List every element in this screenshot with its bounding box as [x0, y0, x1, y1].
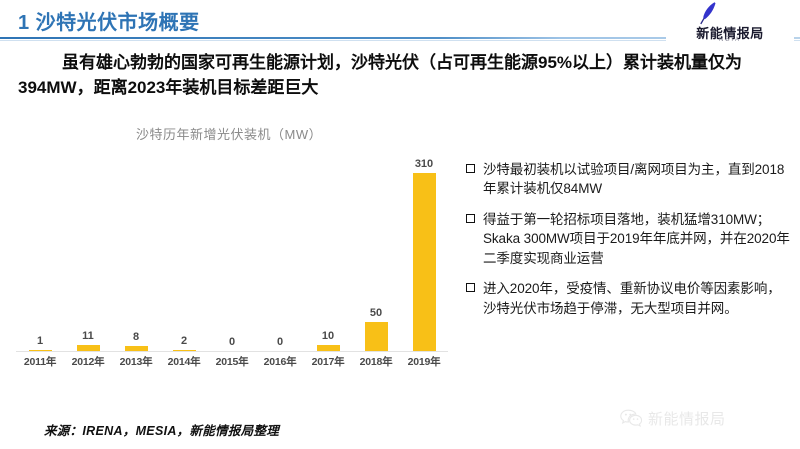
- x-axis-tick-label: 2012年: [64, 354, 112, 369]
- chart-bar-group: 1: [16, 156, 64, 351]
- source-note: 来源：IRENA，MESIA，新能情报局整理: [44, 420, 279, 439]
- bullet-text: 沙特最初装机以试验项目/离网项目为主，直到2018年累计装机仅84MW: [483, 160, 792, 199]
- bullet-text: 进入2020年，受疫情、重新协议电价等因素影响，沙特光伏市场趋于停滞，无大型项目…: [483, 279, 792, 318]
- slide-subtitle: 虽有雄心勃勃的国家可再生能源计划，沙特光伏（占可再生能源95%以上）累计装机量仅…: [18, 50, 780, 100]
- x-axis-tick-label: 2013年: [112, 354, 160, 369]
- feather-icon: [694, 1, 720, 25]
- chart-bar-group: 2: [160, 156, 208, 351]
- bar-value-label: 8: [133, 332, 139, 343]
- bar-value-label: 310: [415, 159, 433, 170]
- x-axis-tick-label: 2018年: [352, 354, 400, 369]
- x-axis-tick-label: 2011年: [16, 354, 64, 369]
- bar-chart: 沙特历年新增光伏装机（MW） 11182001050310 2011年2012年…: [8, 118, 456, 390]
- x-axis-tick-label: 2017年: [304, 354, 352, 369]
- bar-value-label: 0: [277, 337, 283, 348]
- bullet-text: 得益于第一轮招标项目落地，装机猛增310MW；Skaka 300MW项目于201…: [483, 210, 792, 268]
- bar-value-label: 11: [82, 331, 94, 342]
- chart-bar-group: 0: [256, 156, 304, 351]
- hollow-square-icon: [466, 283, 475, 292]
- bar-value-label: 2: [181, 336, 187, 347]
- chart-bar: [365, 322, 388, 351]
- x-axis-tick-label: 2014年: [160, 354, 208, 369]
- chart-plot-area: 11182001050310: [16, 156, 448, 352]
- chart-bar: [413, 173, 436, 351]
- chart-bar-group: 8: [112, 156, 160, 351]
- chart-bar-group: 10: [304, 156, 352, 351]
- x-axis-tick-label: 2019年: [400, 354, 448, 369]
- page-header: 1 沙特光伏市场概要 新能情报局 NEIA: [0, 0, 800, 46]
- chart-title: 沙特历年新增光伏装机（MW）: [136, 124, 322, 143]
- chart-bar-group: 0: [208, 156, 256, 351]
- x-axis-tick-label: 2015年: [208, 354, 256, 369]
- bullet-item: 得益于第一轮招标项目落地，装机猛增310MW；Skaka 300MW项目于201…: [466, 210, 792, 268]
- bar-value-label: 50: [370, 308, 382, 319]
- chart-x-axis: 2011年2012年2013年2014年2015年2016年2017年2018年…: [16, 354, 448, 369]
- brand-logo: 新能情报局 NEIA: [666, 1, 794, 47]
- bar-value-label: 1: [37, 336, 43, 347]
- page-title: 1 沙特光伏市场概要: [18, 6, 200, 35]
- insight-bullet-list: 沙特最初装机以试验项目/离网项目为主，直到2018年累计装机仅84MW得益于第一…: [466, 160, 792, 329]
- chart-bar-group: 11: [64, 156, 112, 351]
- bullet-item: 进入2020年，受疫情、重新协议电价等因素影响，沙特光伏市场趋于停滞，无大型项目…: [466, 279, 792, 318]
- chart-bar-group: 310: [400, 156, 448, 351]
- bullet-item: 沙特最初装机以试验项目/离网项目为主，直到2018年累计装机仅84MW: [466, 160, 792, 199]
- bar-value-label: 10: [322, 331, 334, 342]
- chart-bar-group: 50: [352, 156, 400, 351]
- chart-bars: 11182001050310: [16, 156, 448, 351]
- wechat-icon: [620, 409, 642, 428]
- brand-subname: NEIA: [666, 37, 794, 43]
- bar-value-label: 0: [229, 337, 235, 348]
- x-axis-tick-label: 2016年: [256, 354, 304, 369]
- watermark: 新能情报局: [620, 408, 726, 429]
- hollow-square-icon: [466, 214, 475, 223]
- watermark-text: 新能情报局: [648, 408, 726, 429]
- chart-baseline: [16, 351, 448, 352]
- hollow-square-icon: [466, 164, 475, 173]
